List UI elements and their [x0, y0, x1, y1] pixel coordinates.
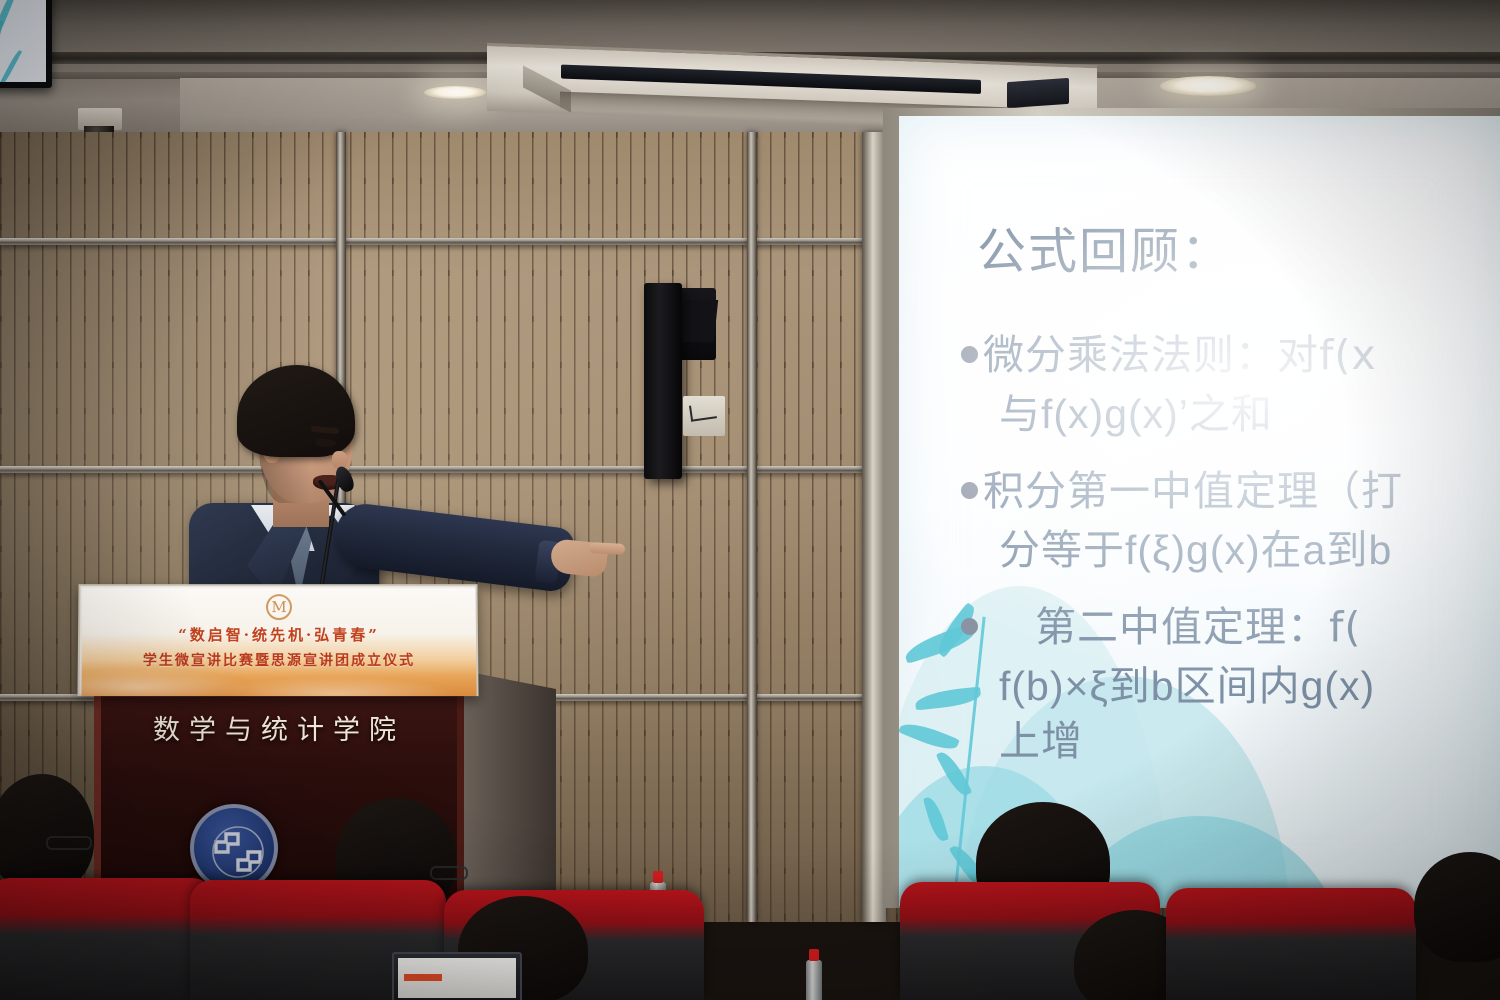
ac-vent-icon: [561, 65, 981, 94]
laptop-screen: [398, 958, 516, 998]
podium-top: M “数启智·统先机·弘青春” 学生微宣讲比赛暨思源宣讲团成立仪式: [77, 584, 478, 696]
podium-logo-icon: M: [266, 594, 292, 620]
bullet-text: 第二中值定理：f(: [1035, 600, 1361, 655]
bullet-text: 积分第一中值定理（打: [983, 464, 1403, 519]
bullet-dot-icon: [961, 618, 978, 635]
bullet-dot-icon: [961, 482, 978, 499]
laptop[interactable]: [392, 952, 522, 1000]
attendee-head: [0, 774, 94, 892]
laptop-screen-graphic: [404, 974, 442, 981]
presenter: [185, 365, 605, 615]
water-bottle: [806, 960, 822, 1000]
monitor-leaf-graphic: [0, 49, 22, 87]
attendee-glasses-icon: [430, 866, 468, 880]
downlight-icon: [424, 86, 486, 99]
audience-area: [0, 880, 1500, 1000]
bullet-dot-icon: [961, 346, 978, 363]
lecture-hall-photo: 公式回顾： 微分乘法法则：对f(x 与f(x)g(x)’之和 积分第一中值定理（…: [0, 0, 1500, 1000]
podium-banner: M “数启智·统先机·弘青春” 学生微宣讲比赛暨思源宣讲团成立仪式: [81, 588, 476, 696]
attendee-glasses-icon: [46, 836, 92, 850]
presenter-pointing-finger: [589, 542, 626, 555]
bullet-text: 微分乘法法则：对f(x: [983, 328, 1377, 383]
monitor-leaf-graphic: [0, 20, 3, 66]
bullet-continuation: 与f(x)g(x)’之和: [999, 387, 1500, 442]
slide-bullet-item: 微分乘法法则：对f(x: [961, 328, 1500, 383]
loudspeaker-icon: [644, 283, 682, 479]
slide-bullet-list: 微分乘法法则：对f(x 与f(x)g(x)’之和 积分第一中值定理（打 分等于f…: [961, 328, 1500, 769]
downlight-icon: [1160, 76, 1256, 96]
loudspeaker-bracket: [680, 300, 718, 342]
slide-heading: 公式回顾：: [977, 212, 1232, 283]
projection-screen[interactable]: 公式回顾： 微分乘法法则：对f(x 与f(x)g(x)’之和 积分第一中值定理（…: [899, 116, 1500, 906]
slide-bullet-item: 第二中值定理：f(: [961, 600, 1500, 655]
presenter-hair: [237, 365, 355, 457]
podium-banner-slogan: “数启智·统先机·弘青春”: [82, 624, 476, 645]
bullet-continuation: 分等于f(ξ)g(x)在a到b: [999, 523, 1500, 578]
auditorium-seat: [0, 878, 214, 1000]
podium-college-name: 数学与统计学院: [101, 708, 457, 747]
podium-banner-swirl: [81, 662, 476, 696]
bullet-continuation: f(b)×ξ到b区间内g(x): [999, 659, 1500, 714]
slide-bullet-item: 积分第一中值定理（打: [961, 464, 1500, 519]
wall-post: [747, 132, 757, 922]
bullet-continuation: 上增: [999, 714, 1500, 769]
university-crest-icon: [190, 804, 278, 892]
auditorium-seat: [1166, 888, 1416, 1000]
wall-monitor: [0, 0, 52, 88]
ac-side-vent: [1007, 78, 1069, 108]
